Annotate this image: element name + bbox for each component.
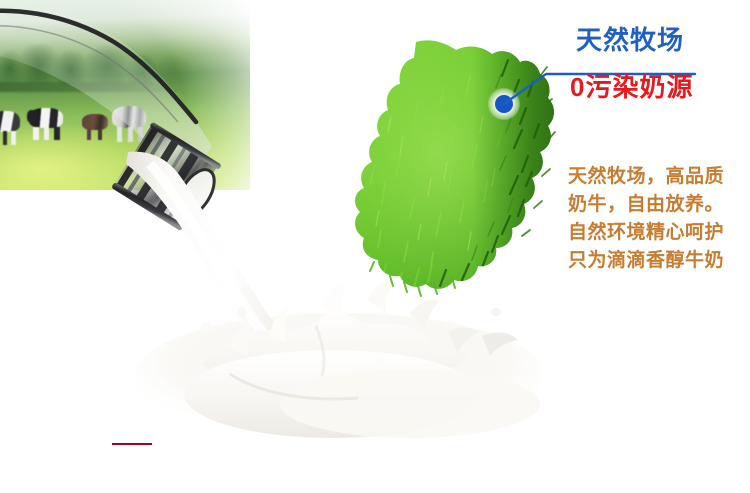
promo-banner: 天然牧场 0污染奶源 天然牧场，高品质 奶牛，自由放养。 自然环境精心呵护 只为…: [0, 0, 750, 493]
subheadline-title: 0污染奶源: [570, 74, 693, 100]
body-line-1: 天然牧场，高品质: [568, 163, 750, 191]
headline-title: 天然牧场: [576, 27, 684, 53]
body-line-3: 自然环境精心呵护: [568, 219, 750, 247]
body-line-2: 奶牛，自由放养。: [568, 191, 750, 219]
body-line-4: 只为滴滴香醇牛奶: [568, 247, 750, 275]
body-copy: 天然牧场，高品质 奶牛，自由放养。 自然环境精心呵护 只为滴滴香醇牛奶: [568, 163, 750, 275]
red-divider-rule: [112, 443, 152, 445]
